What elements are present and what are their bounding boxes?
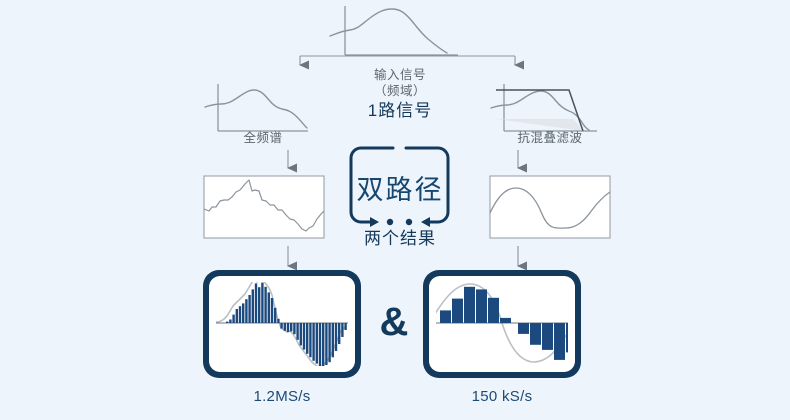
label-antialias-filter: 抗混叠滤波 <box>490 131 610 146</box>
chart-filtered-sine <box>490 176 610 238</box>
diagram-canvas: 输入信号 （频域） 1路信号 全频谱 抗混叠滤波 双路径 两个结果 & 1.2M… <box>0 0 790 420</box>
sine-box-frame <box>490 176 610 238</box>
label-input-signal-line2: （频域） <box>345 84 455 99</box>
antialias-shaded-region <box>496 119 584 131</box>
label-rate-left: 1.2MS/s <box>222 389 342 404</box>
label-full-spectrum: 全频谱 <box>208 131 318 146</box>
diagram-vector-layer <box>0 0 790 420</box>
label-rate-right: 150 kS/s <box>442 389 562 404</box>
panel-slow-sampled <box>423 270 581 378</box>
label-two-results: 两个结果 <box>340 231 460 246</box>
chart-full-spectrum <box>205 84 308 131</box>
input-spectrum-curve <box>330 9 447 53</box>
arrow-left-icon <box>421 217 430 227</box>
label-center-badge: 双路径 <box>340 168 460 207</box>
chart-wideband-timeseries <box>204 176 324 238</box>
chart-input-spectrum <box>330 6 458 55</box>
panel-fast-sampled <box>203 270 361 378</box>
wideband-box-frame <box>204 176 324 238</box>
full-spectrum-curve <box>205 90 307 128</box>
dot-icon <box>387 219 393 225</box>
label-one-channel: 1路信号 <box>340 103 460 118</box>
flow-connector-top <box>300 56 515 65</box>
label-ampersand: & <box>374 302 414 342</box>
arrow-right-icon <box>370 217 379 227</box>
chart-antialias-filter <box>491 84 597 131</box>
label-input-signal-line1: 输入信号 <box>345 68 455 83</box>
dot-icon <box>406 219 412 225</box>
